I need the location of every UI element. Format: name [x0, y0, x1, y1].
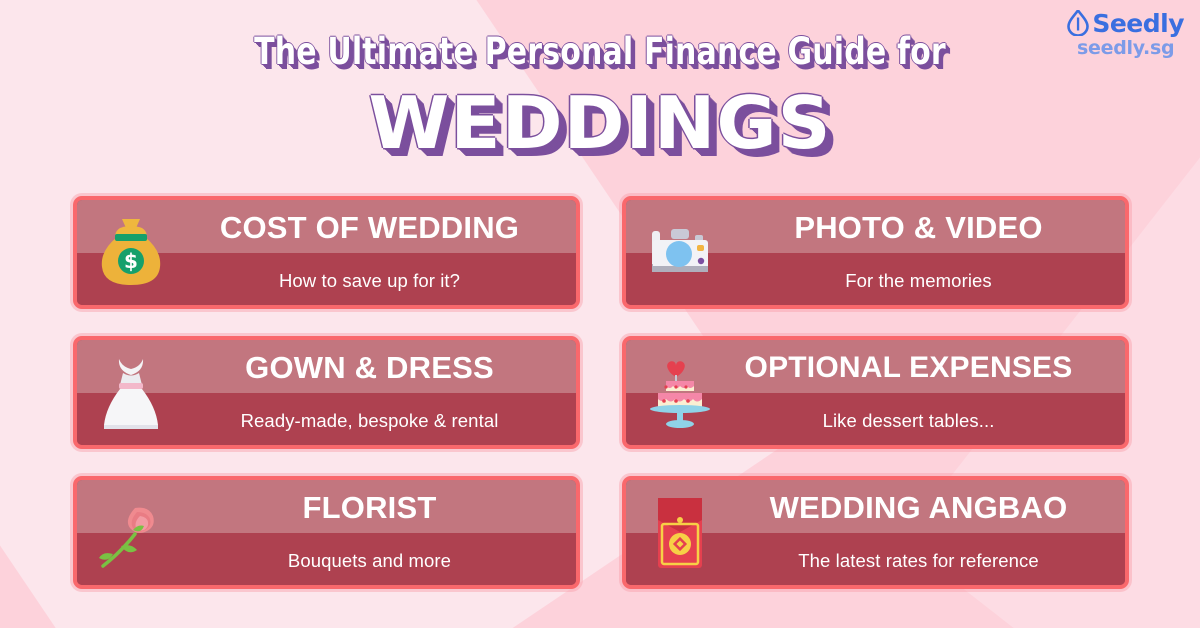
- card-title: FLORIST: [303, 480, 437, 536]
- topic-card-cost-of-wedding[interactable]: $ COST OF WEDDING How to save up for it?: [73, 196, 580, 309]
- card-subtitle: The latest rates for reference: [798, 536, 1039, 585]
- card-title: PHOTO & VIDEO: [794, 200, 1042, 256]
- card-title: COST OF WEDDING: [220, 200, 519, 256]
- card-subtitle: Bouquets and more: [288, 536, 451, 585]
- topic-card-optional-expenses[interactable]: OPTIONAL EXPENSES Like dessert tables...: [622, 336, 1129, 449]
- card-text-block: FLORIST Bouquets and more: [173, 480, 566, 585]
- card-subtitle: Like dessert tables...: [823, 396, 995, 445]
- card-title: WEDDING ANGBAO: [770, 480, 1068, 536]
- card-title: GOWN & DRESS: [245, 340, 494, 396]
- card-subtitle: How to save up for it?: [279, 256, 460, 305]
- card-subtitle: Ready-made, bespoke & rental: [241, 396, 499, 445]
- red-envelope-angbao-icon: [642, 491, 718, 575]
- topic-card-wedding-angbao[interactable]: WEDDING ANGBAO The latest rates for refe…: [622, 476, 1129, 589]
- infographic-canvas: Seedly seedly.sg The Ultimate Personal F…: [0, 0, 1200, 628]
- page-title-main: WEDDINGS: [0, 81, 1200, 165]
- page-title: The Ultimate Personal Finance Guide for …: [0, 30, 1200, 165]
- page-title-subline: The Ultimate Personal Finance Guide for: [60, 30, 1140, 73]
- card-text-block: OPTIONAL EXPENSES Like dessert tables...: [702, 340, 1115, 445]
- rose-flower-icon: [93, 491, 169, 575]
- card-text-block: COST OF WEDDING How to save up for it?: [173, 200, 566, 305]
- topic-card-florist[interactable]: FLORIST Bouquets and more: [73, 476, 580, 589]
- svg-text:$: $: [124, 249, 138, 273]
- wedding-dress-icon: [93, 351, 169, 435]
- card-text-block: PHOTO & VIDEO For the memories: [722, 200, 1115, 305]
- money-bag-icon: $: [93, 211, 169, 295]
- wedding-cake-icon: [642, 351, 718, 435]
- camera-icon: [642, 211, 718, 295]
- card-title: OPTIONAL EXPENSES: [745, 340, 1073, 396]
- topic-card-gown-dress[interactable]: GOWN & DRESS Ready-made, bespoke & renta…: [73, 336, 580, 449]
- card-subtitle: For the memories: [845, 256, 992, 305]
- topic-card-photo-video[interactable]: PHOTO & VIDEO For the memories: [622, 196, 1129, 309]
- topic-card-grid: $ COST OF WEDDING How to save up for it?: [73, 196, 1129, 589]
- card-text-block: WEDDING ANGBAO The latest rates for refe…: [722, 480, 1115, 585]
- card-text-block: GOWN & DRESS Ready-made, bespoke & renta…: [173, 340, 566, 445]
